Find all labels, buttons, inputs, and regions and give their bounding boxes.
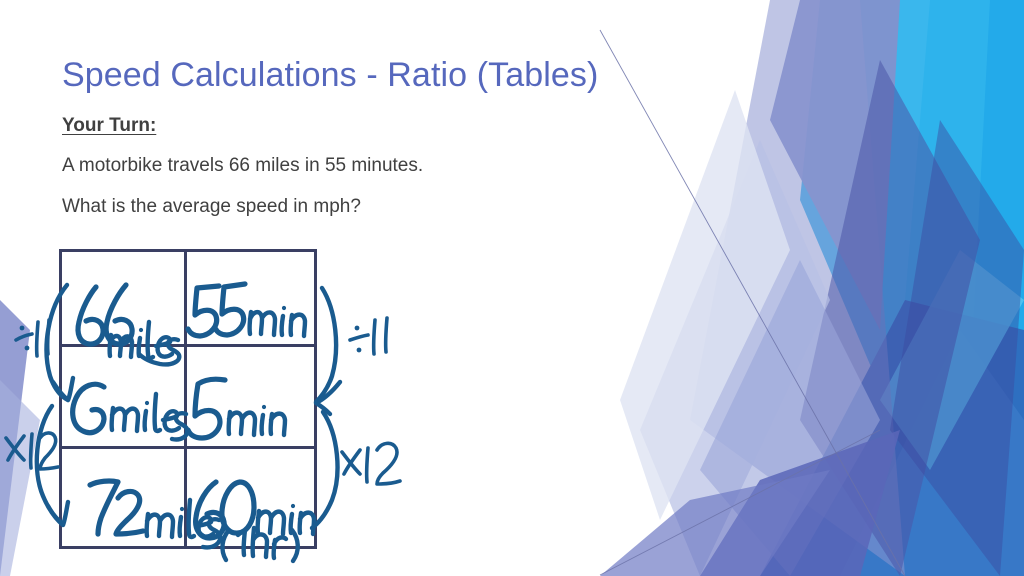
decor-shape-periwinkle-top — [770, 0, 900, 330]
ratio-table-row-divider-1 — [59, 344, 317, 347]
decor-shape-cyan-right — [905, 0, 1024, 470]
ratio-table-column-divider — [184, 249, 187, 549]
slide-canvas: Speed Calculations - Ratio (Tables) Your… — [0, 0, 1024, 576]
ratio-table-grid — [59, 249, 317, 549]
decor-shape-indigo-bottom2 — [600, 470, 830, 576]
decor-shape-blue-lower — [760, 300, 1024, 576]
body-lead-label: Your Turn: — [62, 116, 682, 135]
decor-hairline-2 — [600, 430, 880, 575]
ratio-table-outer-border — [59, 249, 317, 549]
annotation-right-times-12 — [312, 412, 400, 528]
decor-shape-cyan-sliver — [880, 250, 1024, 470]
decor-shape-left-periwinkle — [0, 300, 30, 576]
decor-shape-indigo-band — [800, 60, 980, 576]
decor-shape-lavender-sheet2 — [700, 260, 880, 576]
decor-hairline-1 — [600, 30, 905, 576]
body-line-2: What is the average speed in mph? — [62, 197, 682, 216]
decor-shape-periwinkle-wide — [690, 0, 905, 576]
decor-shape-indigo-deep — [890, 120, 1024, 576]
decor-shape-cyan-wedge — [800, 0, 990, 576]
ratio-table-row-divider-2 — [59, 446, 317, 449]
annotation-right-divide-11 — [316, 288, 387, 414]
page-title: Speed Calculations - Ratio (Tables) — [62, 56, 598, 95]
decor-shape-indigo-bottom — [700, 430, 900, 576]
decor-shape-blue-lower2 — [840, 330, 1024, 576]
background-left-sliver — [0, 0, 60, 576]
body-line-1: A motorbike travels 66 miles in 55 minut… — [62, 156, 682, 175]
decor-shape-left-periwinkle-pale — [0, 380, 40, 576]
body-text-block: Your Turn: A motorbike travels 66 miles … — [62, 116, 682, 238]
